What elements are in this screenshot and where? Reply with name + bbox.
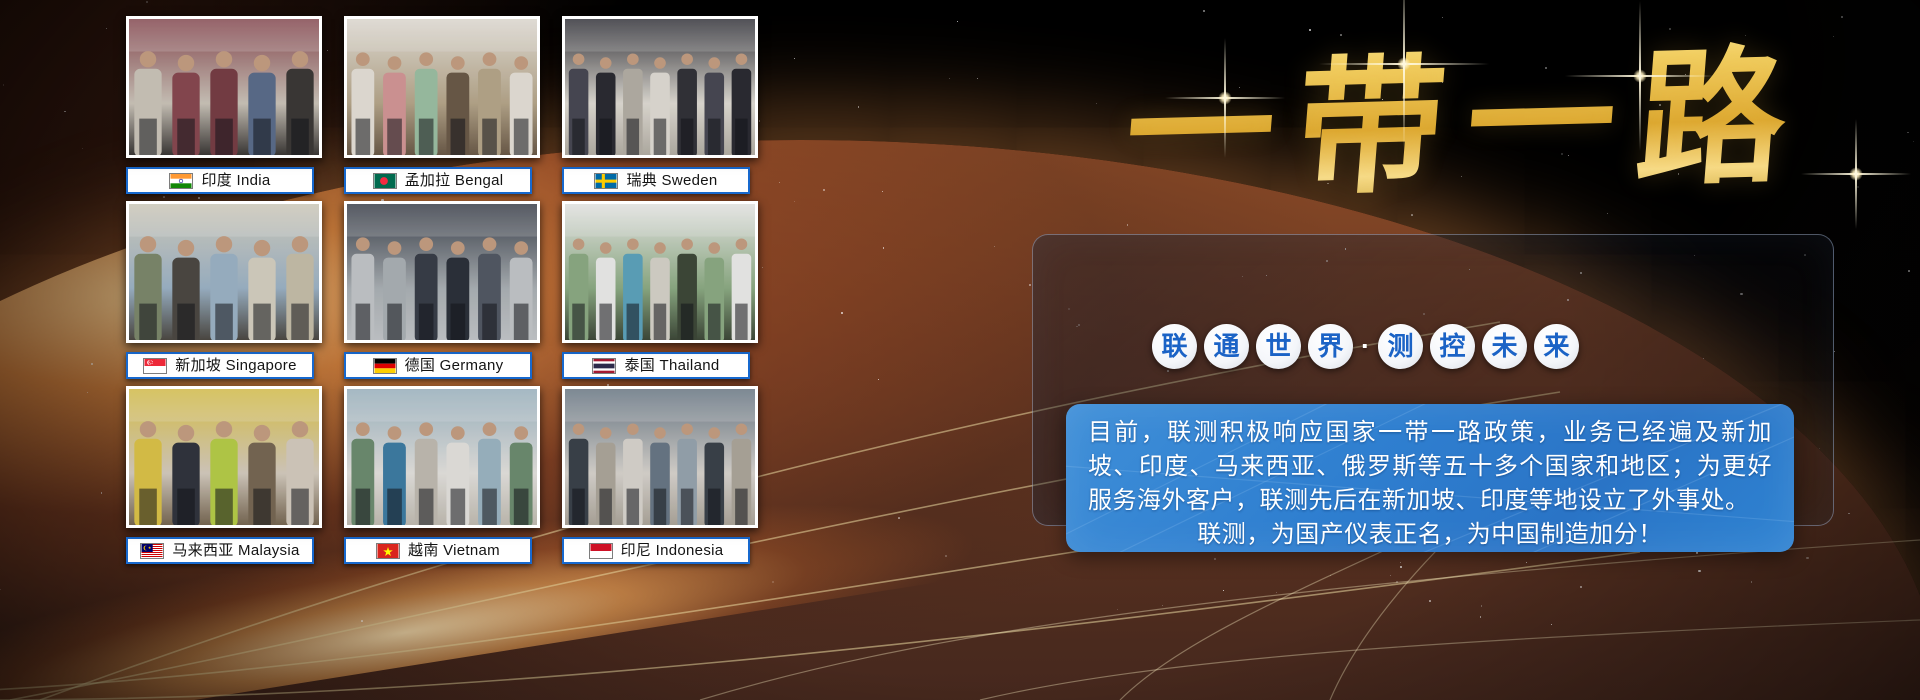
country-label-text-singapore: 新加坡 Singapore bbox=[175, 358, 296, 373]
country-photo-bengal bbox=[344, 16, 540, 158]
country-label-plate-indonesia: 印尼 Indonesia bbox=[562, 537, 750, 564]
message-closing: 联测，为国产仪表正名，为中国制造加分！ bbox=[1088, 517, 1772, 551]
country-label-plate-germany: 德国 Germany bbox=[344, 352, 532, 379]
flag-germany-icon bbox=[373, 358, 397, 374]
country-label-text-germany: 德国 Germany bbox=[405, 358, 504, 373]
slogan-char-0: 联 bbox=[1152, 324, 1197, 369]
country-photo-vietnam bbox=[344, 386, 540, 528]
country-photo-sweden bbox=[562, 16, 758, 158]
country-photo-indonesia bbox=[562, 386, 758, 528]
country-label-text-vietnam: 越南 Vietnam bbox=[408, 543, 500, 558]
country-card-india[interactable]: 印度 India bbox=[126, 16, 322, 201]
country-photo-grid: 印度 India 孟加拉 Bengal 瑞典 Sweden 新加坡 Singap… bbox=[126, 16, 766, 571]
country-card-sweden[interactable]: 瑞典 Sweden bbox=[562, 16, 758, 201]
country-label-plate-thailand: 泰国 Thailand bbox=[562, 352, 750, 379]
flag-singapore-icon bbox=[143, 358, 167, 374]
flag-sweden-icon bbox=[594, 173, 618, 189]
slogan-char-3: 界 bbox=[1308, 324, 1353, 369]
country-photo-malaysia bbox=[126, 386, 322, 528]
country-label-text-sweden: 瑞典 Sweden bbox=[626, 173, 717, 188]
country-label-plate-singapore: 新加坡 Singapore bbox=[126, 352, 314, 379]
slogan-char-b-1: 控 bbox=[1430, 324, 1475, 369]
country-card-singapore[interactable]: 新加坡 Singapore bbox=[126, 201, 322, 386]
country-label-text-indonesia: 印尼 Indonesia bbox=[621, 543, 724, 558]
flag-indonesia-icon bbox=[589, 543, 613, 559]
slogan-char-b-3: 来 bbox=[1534, 324, 1579, 369]
message-paragraph: 目前，联测积极响应国家一带一路政策，业务已经遍及新加坡、印度、马来西亚、俄罗斯等… bbox=[1088, 415, 1772, 517]
slogan-char-b-0: 测 bbox=[1378, 324, 1423, 369]
country-card-bengal[interactable]: 孟加拉 Bengal bbox=[344, 16, 540, 201]
country-label-plate-sweden: 瑞典 Sweden bbox=[562, 167, 750, 194]
slogan-char-1: 通 bbox=[1204, 324, 1249, 369]
country-label-plate-vietnam: 越南 Vietnam bbox=[344, 537, 532, 564]
slogan-separator: · bbox=[1360, 333, 1371, 360]
country-card-germany[interactable]: 德国 Germany bbox=[344, 201, 540, 386]
slogan-char-2: 世 bbox=[1256, 324, 1301, 369]
country-card-vietnam[interactable]: 越南 Vietnam bbox=[344, 386, 540, 571]
country-card-thailand[interactable]: 泰国 Thailand bbox=[562, 201, 758, 386]
country-card-malaysia[interactable]: 马来西亚 Malaysia bbox=[126, 386, 322, 571]
country-label-text-bengal: 孟加拉 Bengal bbox=[405, 173, 504, 188]
headline-calligraphy: 一带一路 bbox=[1028, 6, 1908, 216]
message-box: 目前，联测积极响应国家一带一路政策，业务已经遍及新加坡、印度、马来西亚、俄罗斯等… bbox=[1066, 404, 1794, 552]
country-label-text-malaysia: 马来西亚 Malaysia bbox=[172, 543, 299, 558]
flag-thailand-icon bbox=[592, 358, 616, 374]
country-label-text-thailand: 泰国 Thailand bbox=[624, 358, 719, 373]
country-label-plate-india: 印度 India bbox=[126, 167, 314, 194]
flag-india-icon bbox=[169, 173, 193, 189]
country-card-indonesia[interactable]: 印尼 Indonesia bbox=[562, 386, 758, 571]
country-photo-singapore bbox=[126, 201, 322, 343]
country-photo-thailand bbox=[562, 201, 758, 343]
flag-bangladesh-icon bbox=[373, 173, 397, 189]
flag-malaysia-icon bbox=[140, 543, 164, 559]
slogan-char-b-2: 未 bbox=[1482, 324, 1527, 369]
flag-vietnam-icon bbox=[376, 543, 400, 559]
slogan-row: 联通世界·测控未来 bbox=[1152, 324, 1579, 369]
country-photo-germany bbox=[344, 201, 540, 343]
banner-root: 印度 India 孟加拉 Bengal 瑞典 Sweden 新加坡 Singap… bbox=[0, 0, 1920, 700]
country-photo-india bbox=[126, 16, 322, 158]
country-label-plate-bengal: 孟加拉 Bengal bbox=[344, 167, 532, 194]
country-label-plate-malaysia: 马来西亚 Malaysia bbox=[126, 537, 314, 564]
headline-text: 一带一路 bbox=[1019, 0, 1918, 227]
country-label-text-india: 印度 India bbox=[201, 173, 270, 188]
